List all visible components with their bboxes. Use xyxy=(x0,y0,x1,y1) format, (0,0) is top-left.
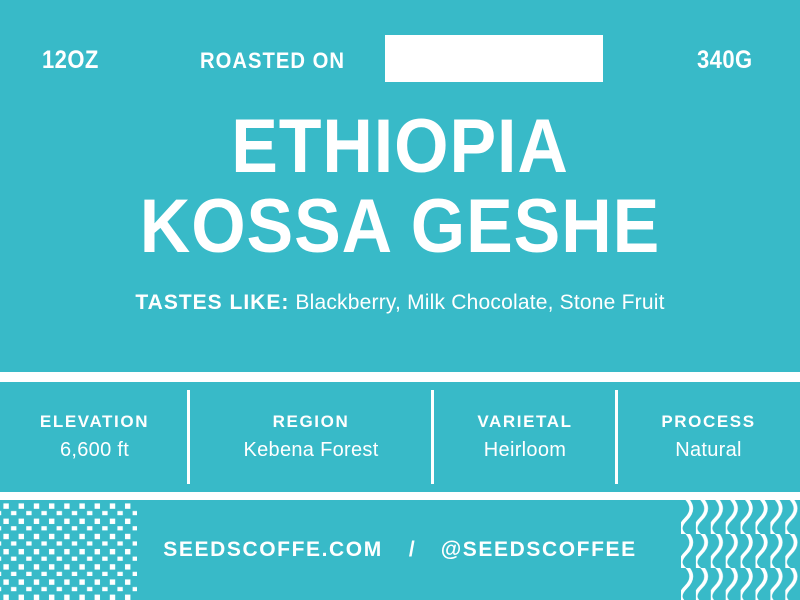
tasting-notes-label: TASTES LIKE: xyxy=(135,291,289,314)
info-cell-region: REGION Kebena Forest xyxy=(189,382,433,492)
divider-rule-top xyxy=(0,372,800,382)
info-cell-varietal: VARIETAL Heirloom xyxy=(433,382,617,492)
coffee-name: KOSSA GESHE xyxy=(32,190,768,264)
footer-links: SEEDSCOFFE.COM / @SEEDSCOFFEE xyxy=(0,500,800,600)
roasted-on-date-field[interactable] xyxy=(385,35,603,82)
divider-rule-bottom xyxy=(0,492,800,500)
info-key-process: PROCESS xyxy=(661,412,755,432)
tasting-notes-value: Blackberry, Milk Chocolate, Stone Fruit xyxy=(295,291,664,314)
info-value-region: Kebena Forest xyxy=(243,439,378,462)
weight-ounces: 12OZ xyxy=(42,46,99,75)
info-value-process: Natural xyxy=(675,439,742,462)
info-value-elevation: 6,600 ft xyxy=(60,439,129,462)
hero-block: ETHIOPIA KOSSA GESHE TASTES LIKE: Blackb… xyxy=(0,110,800,315)
info-value-varietal: Heirloom xyxy=(484,439,566,462)
coffee-origin: ETHIOPIA xyxy=(32,110,768,184)
info-row: ELEVATION 6,600 ft REGION Kebena Forest … xyxy=(0,382,800,492)
info-cell-elevation: ELEVATION 6,600 ft xyxy=(0,382,189,492)
tasting-notes: TASTES LIKE: Blackberry, Milk Chocolate,… xyxy=(0,291,800,315)
info-divider-1 xyxy=(187,390,190,484)
footer: SEEDSCOFFE.COM / @SEEDSCOFFEE xyxy=(0,500,800,600)
top-bar: 12OZ ROASTED ON 340G xyxy=(0,0,800,118)
info-key-varietal: VARIETAL xyxy=(477,412,572,432)
info-cell-process: PROCESS Natural xyxy=(617,382,800,492)
info-key-elevation: ELEVATION xyxy=(40,412,149,432)
roasted-on-label: ROASTED ON xyxy=(200,48,345,74)
info-key-region: REGION xyxy=(273,412,350,432)
footer-social-handle[interactable]: @SEEDSCOFFEE xyxy=(441,538,637,562)
footer-website[interactable]: SEEDSCOFFE.COM xyxy=(163,538,383,562)
coffee-bag-label: 12OZ ROASTED ON 340G ETHIOPIA KOSSA GESH… xyxy=(0,0,800,600)
info-divider-3 xyxy=(615,390,618,484)
info-divider-2 xyxy=(431,390,434,484)
weight-grams: 340G xyxy=(697,46,753,75)
footer-separator: / xyxy=(409,538,415,562)
